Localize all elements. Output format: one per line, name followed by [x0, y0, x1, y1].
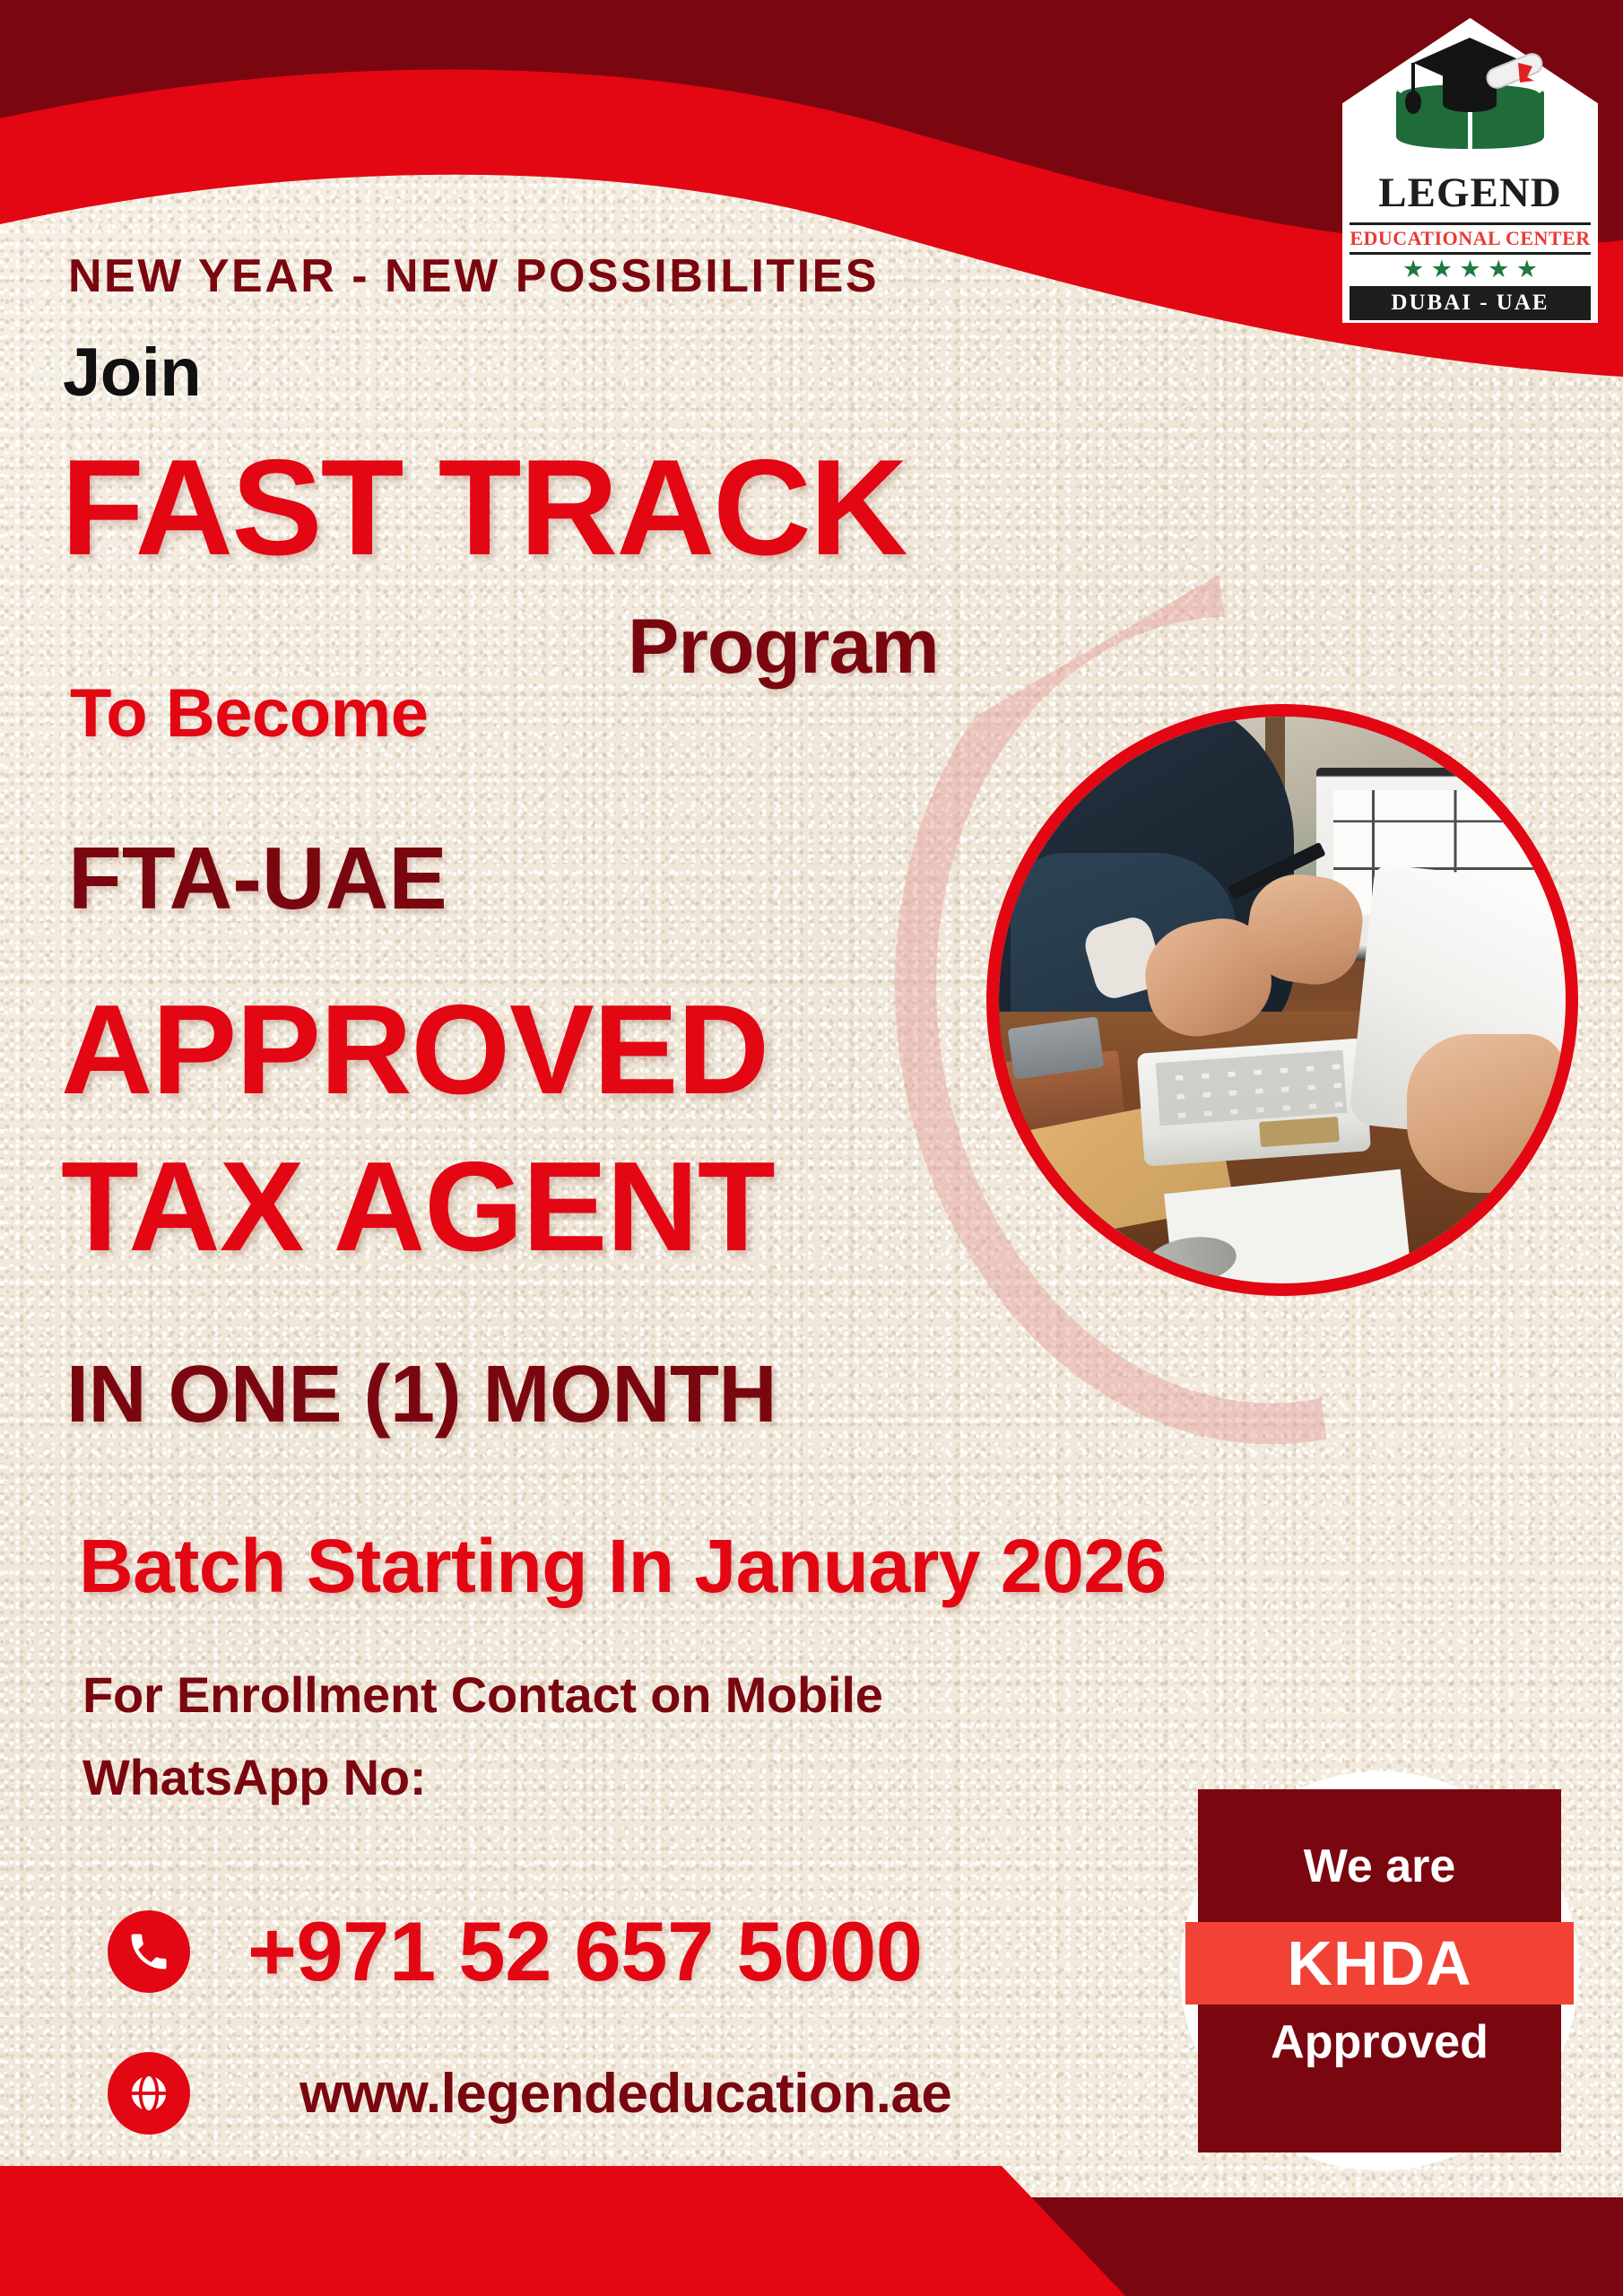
client-hand [1407, 1034, 1566, 1193]
calculator-keys [1156, 1050, 1347, 1126]
logo-subtitle-text: EDUCATIONAL CENTER [1350, 222, 1591, 255]
business-consultation-photo [986, 704, 1578, 1296]
badge-bottom-text: Approved [1180, 2019, 1579, 2066]
website-url-text[interactable]: www.legendeducation.ae [299, 2062, 951, 2126]
photo-scene [999, 717, 1566, 1283]
badge-top-text: We are [1180, 1843, 1579, 1890]
duration-text: IN ONE (1) MONTH [66, 1354, 777, 1435]
to-become-text: To Become [70, 680, 429, 748]
globe-icon [108, 2052, 190, 2135]
legend-logo: LEGEND EDUCATIONAL CENTER ★ ★ ★ ★ ★ DUBA… [1342, 18, 1598, 323]
bottom-bright-band [0, 2166, 1125, 2296]
join-text: Join [63, 339, 201, 407]
phone-number-text[interactable]: +971 52 657 5000 [247, 1903, 923, 2000]
website-contact-row[interactable]: www.legendeducation.ae [108, 2052, 951, 2135]
program-text: Program [628, 608, 939, 685]
fast-track-heading: FAST TRACK [61, 439, 907, 576]
phone-contact-row[interactable]: +971 52 657 5000 [108, 1903, 923, 2000]
batch-start-text: Batch Starting In January 2026 [79, 1528, 1167, 1604]
poster-canvas: LEGEND EDUCATIONAL CENTER ★ ★ ★ ★ ★ DUBA… [0, 0, 1623, 2296]
enrollment-line-2: WhatsApp No: [82, 1752, 426, 1803]
fta-uae-text: FTA-UAE [68, 834, 447, 922]
logo-stars-icon: ★ ★ ★ ★ ★ [1350, 254, 1591, 284]
badge-main-text: KHDA [1287, 1932, 1471, 1995]
tagline-text: NEW YEAR - NEW POSSIBILITIES [68, 253, 879, 300]
logo-name-text: LEGEND [1350, 169, 1591, 217]
badge-main-band: KHDA [1185, 1922, 1574, 2005]
enrollment-line-1: For Enrollment Contact on Mobile [82, 1670, 883, 1720]
tax-agent-heading: TAX AGENT [61, 1144, 775, 1271]
phone-icon [108, 1910, 190, 1993]
logo-city-text: DUBAI - UAE [1350, 286, 1591, 320]
logo-emblem-graduation-book-icon [1342, 30, 1598, 165]
khda-approved-badge: We are KHDA Approved [1180, 1771, 1579, 2170]
approved-heading: APPROVED [61, 987, 768, 1114]
